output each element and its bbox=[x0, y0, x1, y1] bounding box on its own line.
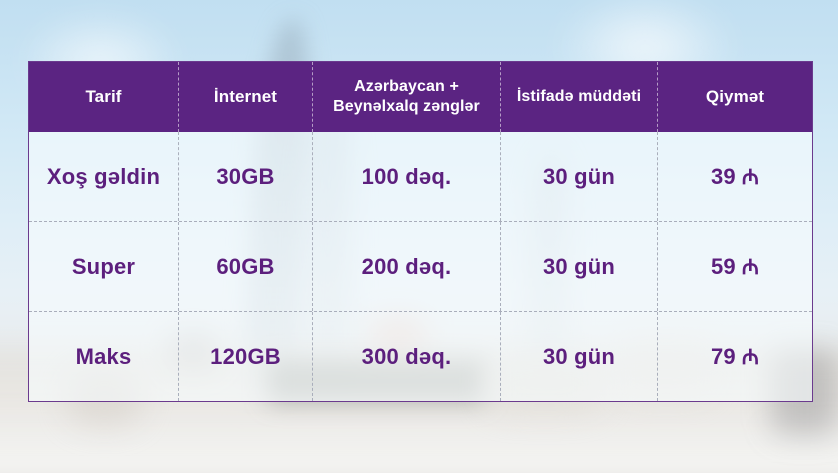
cell-price: 79 ₼ bbox=[657, 312, 812, 401]
table-row: Xoş gəldin 30GB 100 dəq. 30 gün 39 ₼ bbox=[29, 132, 812, 221]
price-amount: 39 bbox=[711, 164, 736, 190]
column-header-internet: İnternet bbox=[178, 62, 312, 132]
tariff-comparison-table: Tarif İnternet Azərbaycan + Beynəlxalq z… bbox=[28, 61, 813, 402]
manat-currency-icon: ₼ bbox=[742, 167, 759, 188]
cell-calls: 100 dəq. bbox=[312, 132, 500, 221]
cell-tarif: Super bbox=[29, 222, 178, 311]
table-body: Xoş gəldin 30GB 100 dəq. 30 gün 39 ₼ Sup… bbox=[29, 132, 812, 401]
cell-tarif: Maks bbox=[29, 312, 178, 401]
cell-internet: 60GB bbox=[178, 222, 312, 311]
price-amount: 79 bbox=[711, 344, 736, 370]
column-header-price: Qiymət bbox=[657, 62, 812, 132]
cell-internet: 30GB bbox=[178, 132, 312, 221]
cell-duration: 30 gün bbox=[500, 312, 657, 401]
column-header-calls-line1: Azərbaycan + bbox=[354, 78, 459, 95]
table-row: Maks 120GB 300 dəq. 30 gün 79 ₼ bbox=[29, 311, 812, 401]
cell-price: 39 ₼ bbox=[657, 132, 812, 221]
column-header-duration: İstifadə müddəti bbox=[500, 62, 657, 132]
column-header-calls-line2: Beynəlxalq zənglər bbox=[333, 98, 480, 115]
cell-calls: 200 dəq. bbox=[312, 222, 500, 311]
manat-currency-icon: ₼ bbox=[742, 347, 759, 368]
cell-tarif: Xoş gəldin bbox=[29, 132, 178, 221]
table-row: Super 60GB 200 dəq. 30 gün 59 ₼ bbox=[29, 221, 812, 311]
manat-currency-icon: ₼ bbox=[742, 257, 759, 278]
cell-internet: 120GB bbox=[178, 312, 312, 401]
cell-price: 59 ₼ bbox=[657, 222, 812, 311]
cell-duration: 30 gün bbox=[500, 222, 657, 311]
cell-duration: 30 gün bbox=[500, 132, 657, 221]
tariff-promo-scene: Tarif İnternet Azərbaycan + Beynəlxalq z… bbox=[0, 0, 838, 473]
column-header-calls: Azərbaycan + Beynəlxalq zənglər bbox=[312, 62, 500, 132]
cell-calls: 300 dəq. bbox=[312, 312, 500, 401]
column-header-tarif: Tarif bbox=[29, 62, 178, 132]
price-amount: 59 bbox=[711, 254, 736, 280]
table-header-row: Tarif İnternet Azərbaycan + Beynəlxalq z… bbox=[29, 62, 812, 132]
